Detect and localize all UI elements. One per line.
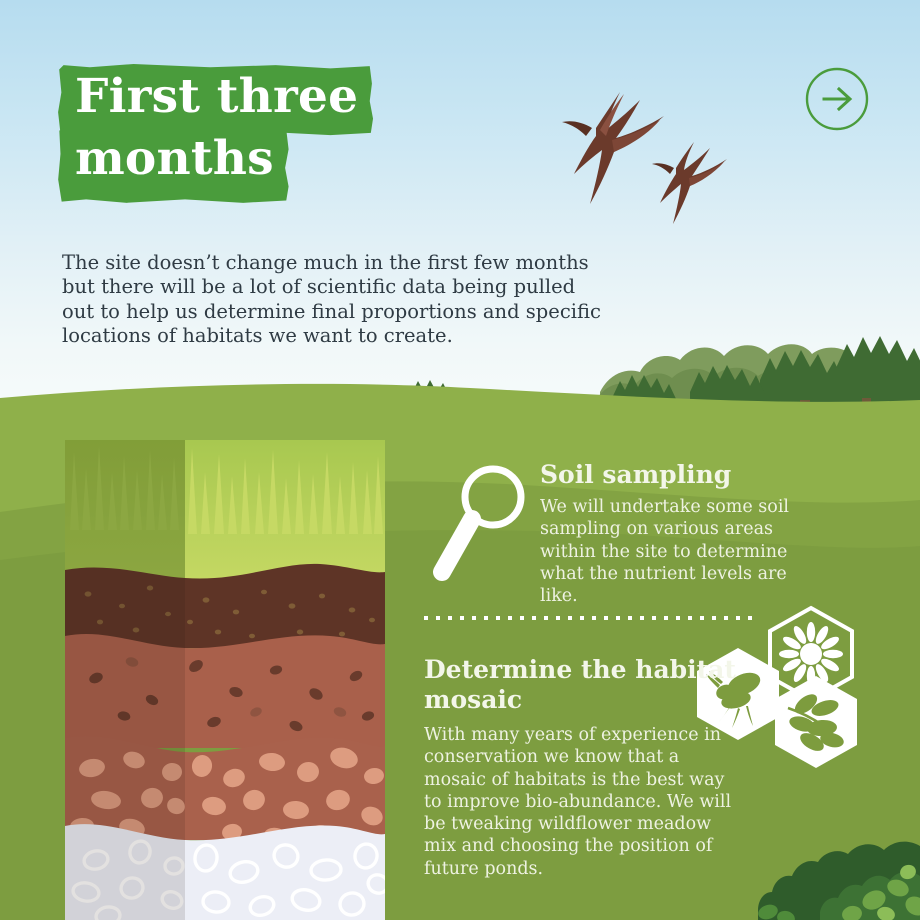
swift-bird-large xyxy=(562,92,664,204)
section-title-soil-sampling: Soil sampling xyxy=(540,460,840,490)
title-text-2: months xyxy=(75,131,274,186)
arrow-right-icon[interactable] xyxy=(805,67,869,131)
title-line-2: months xyxy=(57,126,290,194)
intro-paragraph: The site doesn’t change much in the firs… xyxy=(62,251,602,349)
page-title: First three months xyxy=(57,64,477,194)
magnifying-glass-icon xyxy=(428,462,528,584)
section-soil-sampling: Soil sampling We will undertake some soi… xyxy=(540,460,840,607)
swift-bird-small xyxy=(652,142,727,224)
leaf-hexagon-icon xyxy=(775,676,857,768)
infographic-slide: First three months The site doesn’t chan… xyxy=(0,0,920,920)
title-line-1: First three xyxy=(57,64,374,132)
section-body-habitat-mosaic: With many years of experience in conserv… xyxy=(424,724,746,880)
soil-panel-shadow xyxy=(65,440,185,920)
section-habitat-mosaic: Determine the habitat mosaic With many y… xyxy=(424,655,754,880)
next-button[interactable] xyxy=(805,67,869,131)
soil-cross-section xyxy=(65,440,391,920)
title-text-1: First three xyxy=(75,69,358,124)
flower-icon xyxy=(779,622,843,686)
section-title-habitat-mosaic: Determine the habitat mosaic xyxy=(424,655,754,715)
section-body-soil-sampling: We will undertake some soil sampling on … xyxy=(540,496,826,607)
